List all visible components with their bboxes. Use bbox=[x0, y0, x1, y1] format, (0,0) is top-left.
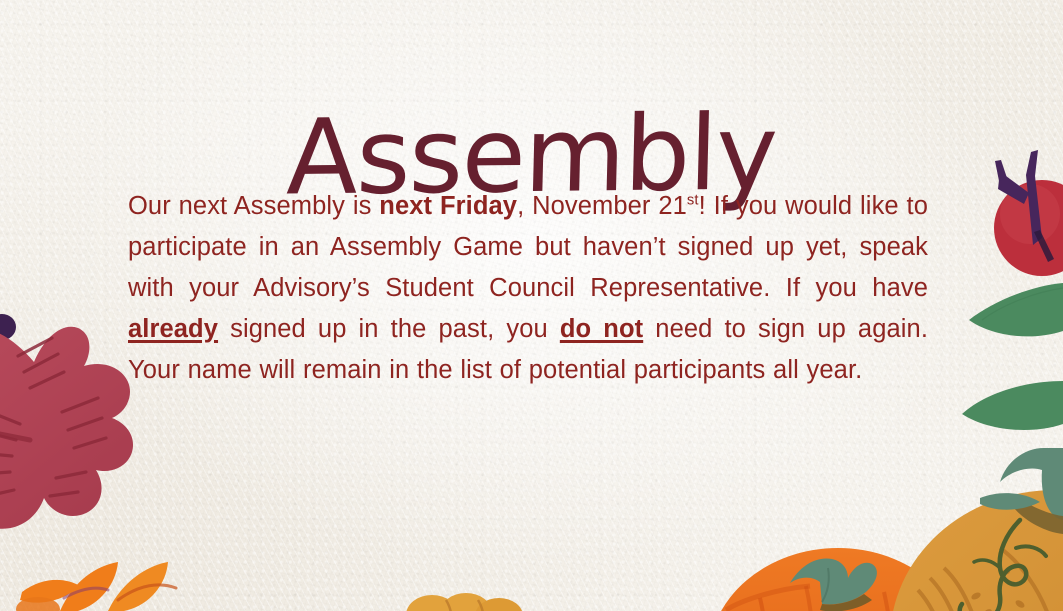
body-emphasis-do-not: do not bbox=[560, 315, 643, 343]
body-segment-4: signed up in the past, you bbox=[218, 315, 560, 343]
assembly-announcement-slide: Assembly Our next Assembly is next Frida… bbox=[0, 0, 1063, 611]
body-bold-next-friday: next Friday bbox=[379, 192, 517, 220]
body-segment-2: , November 21 bbox=[517, 192, 687, 220]
body-segment-1: Our next Assembly is bbox=[128, 192, 379, 220]
body-emphasis-already: already bbox=[128, 315, 218, 343]
slide-content: Assembly Our next Assembly is next Frida… bbox=[0, 0, 1063, 611]
body-ordinal-suffix: st bbox=[687, 193, 699, 209]
announcement-body: Our next Assembly is next Friday, Novemb… bbox=[128, 186, 928, 391]
